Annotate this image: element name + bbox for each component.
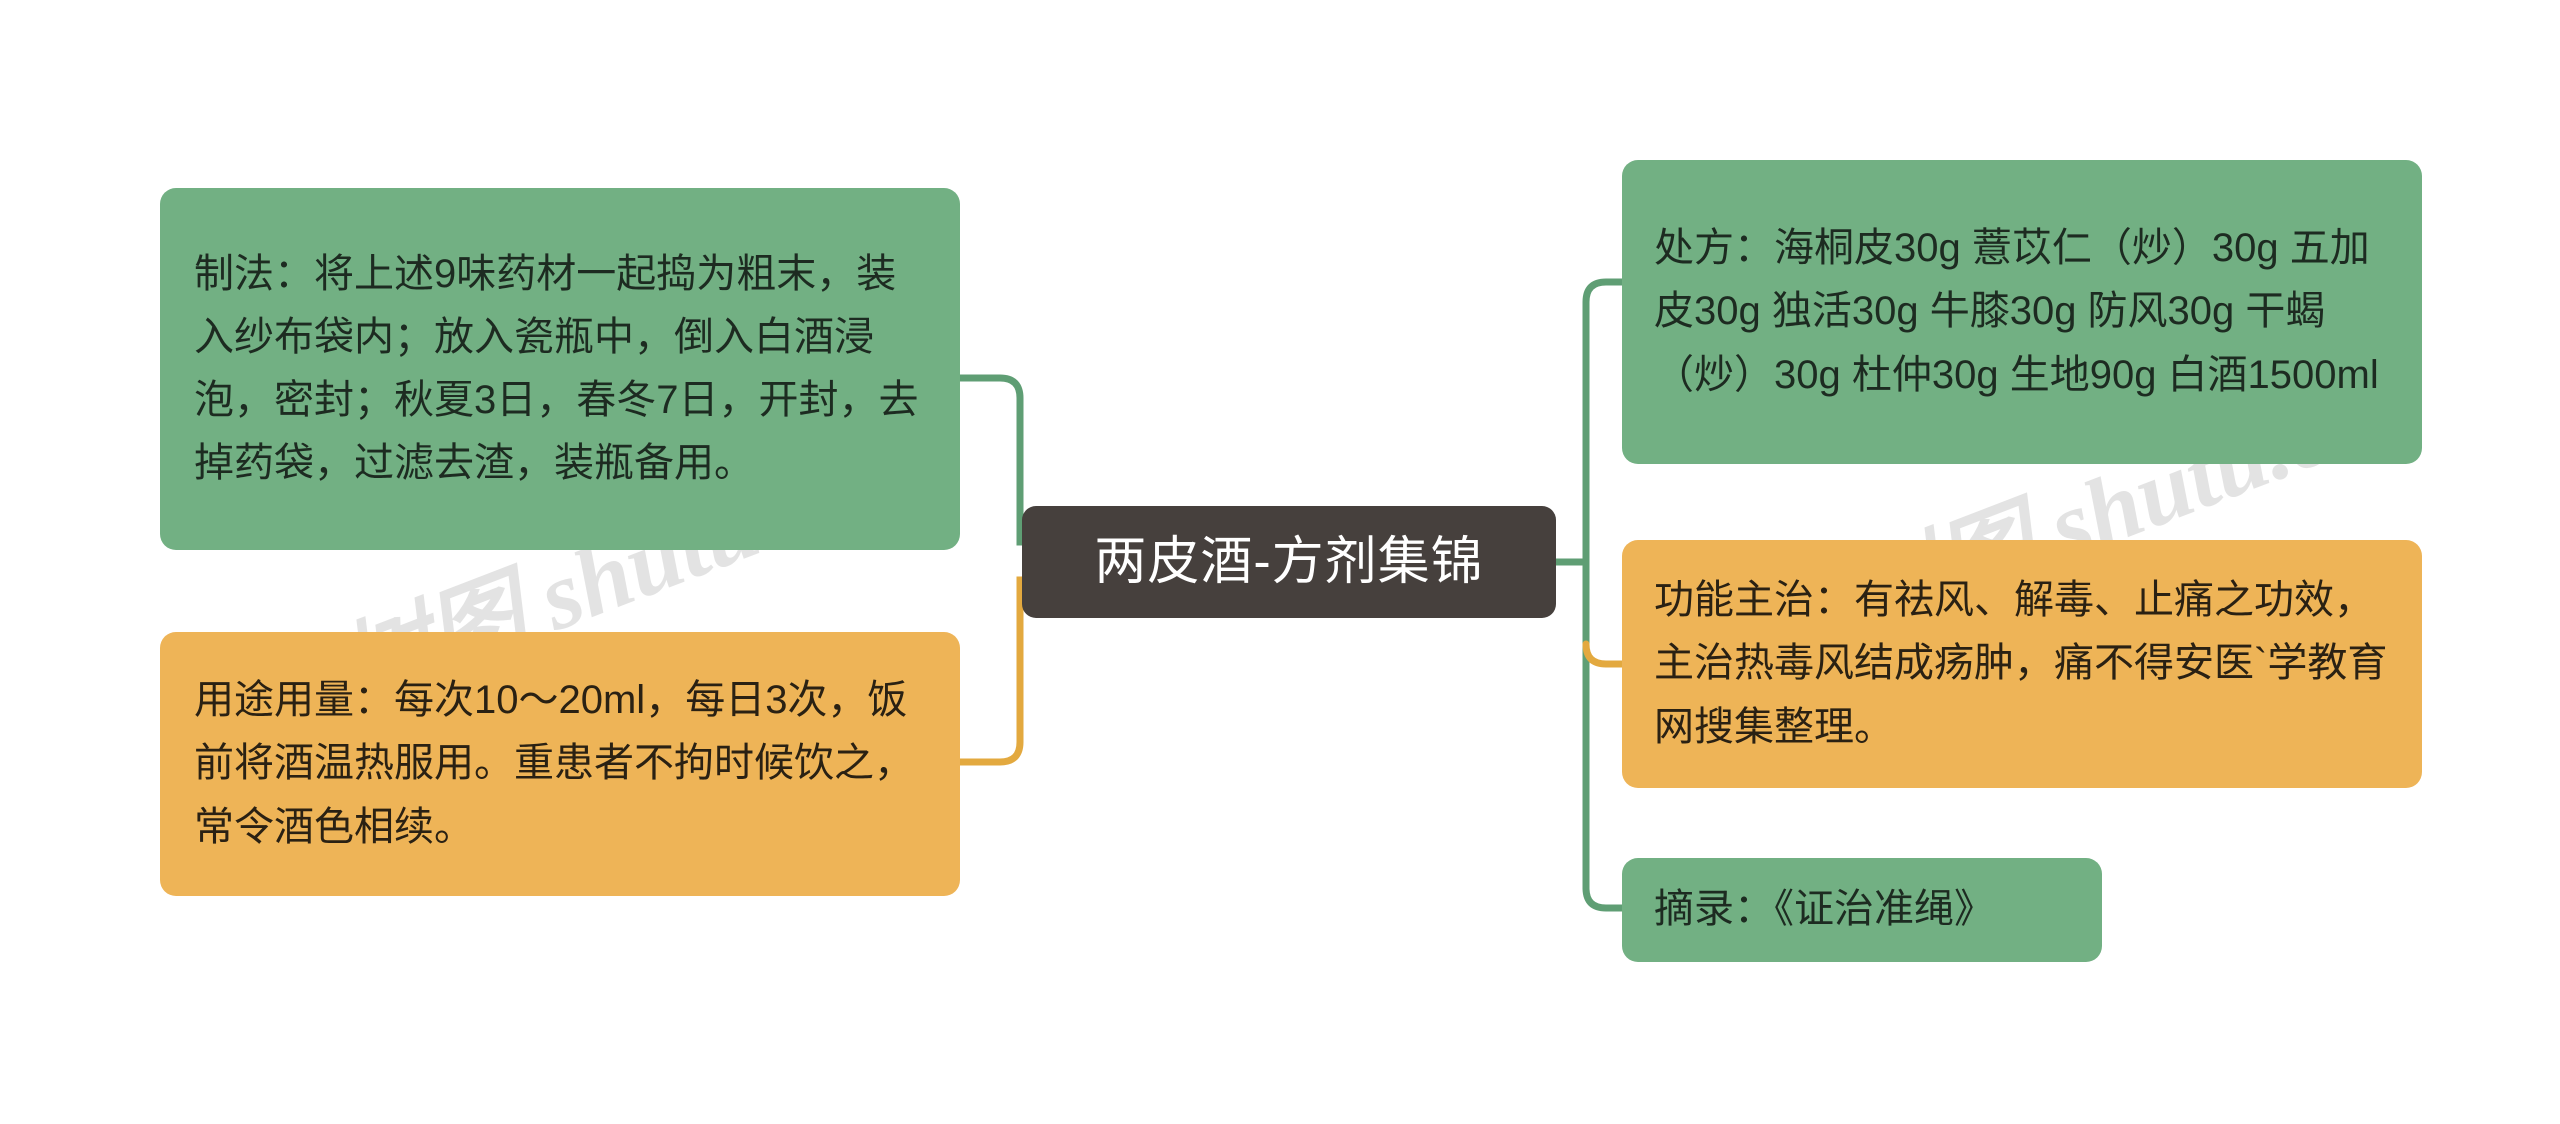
node-zhifa[interactable]: 制法：将上述9味药材一起捣为粗末，装入纱布袋内；放入瓷瓶中，倒入白酒浸泡，密封；… bbox=[160, 188, 960, 550]
node-chufang[interactable]: 处方：海桐皮30g 薏苡仁（炒）30g 五加皮30g 独活30g 牛膝30g 防… bbox=[1622, 160, 2422, 464]
node-yongtu-label: 用途用量：每次10～20ml，每日3次，饭前将酒温热服用。重患者不拘时候饮之，常… bbox=[194, 669, 926, 859]
node-gongneng-label: 功能主治：有祛风、解毒、止痛之功效，主治热毒风结成疡肿，痛不得安医`学教育网搜集… bbox=[1654, 569, 2390, 759]
wire-zhailu bbox=[1586, 562, 1622, 908]
node-gongneng[interactable]: 功能主治：有祛风、解毒、止痛之功效，主治热毒风结成疡肿，痛不得安医`学教育网搜集… bbox=[1622, 540, 2422, 788]
wire-chufang bbox=[1586, 282, 1622, 562]
wire-zhifa bbox=[960, 378, 1022, 542]
mindmap-canvas: 树图 shutu.cn 树图 shutu.cn 制法：将上述9味药材一起捣为粗末… bbox=[0, 0, 2560, 1124]
wire-yongtu bbox=[960, 580, 1022, 762]
node-zhailu[interactable]: 摘录：《证治准绳》 bbox=[1622, 858, 2102, 962]
node-yongtu[interactable]: 用途用量：每次10～20ml，每日3次，饭前将酒温热服用。重患者不拘时候饮之，常… bbox=[160, 632, 960, 896]
node-zhifa-label: 制法：将上述9味药材一起捣为粗末，装入纱布袋内；放入瓷瓶中，倒入白酒浸泡，密封；… bbox=[194, 243, 926, 496]
node-zhailu-label: 摘录：《证治准绳》 bbox=[1654, 878, 2070, 941]
node-chufang-label: 处方：海桐皮30g 薏苡仁（炒）30g 五加皮30g 独活30g 牛膝30g 防… bbox=[1654, 217, 2390, 407]
root-node-label: 两皮酒-方剂集锦 bbox=[1052, 521, 1526, 603]
root-node[interactable]: 两皮酒-方剂集锦 bbox=[1022, 506, 1556, 618]
wire-gongneng bbox=[1586, 644, 1622, 664]
